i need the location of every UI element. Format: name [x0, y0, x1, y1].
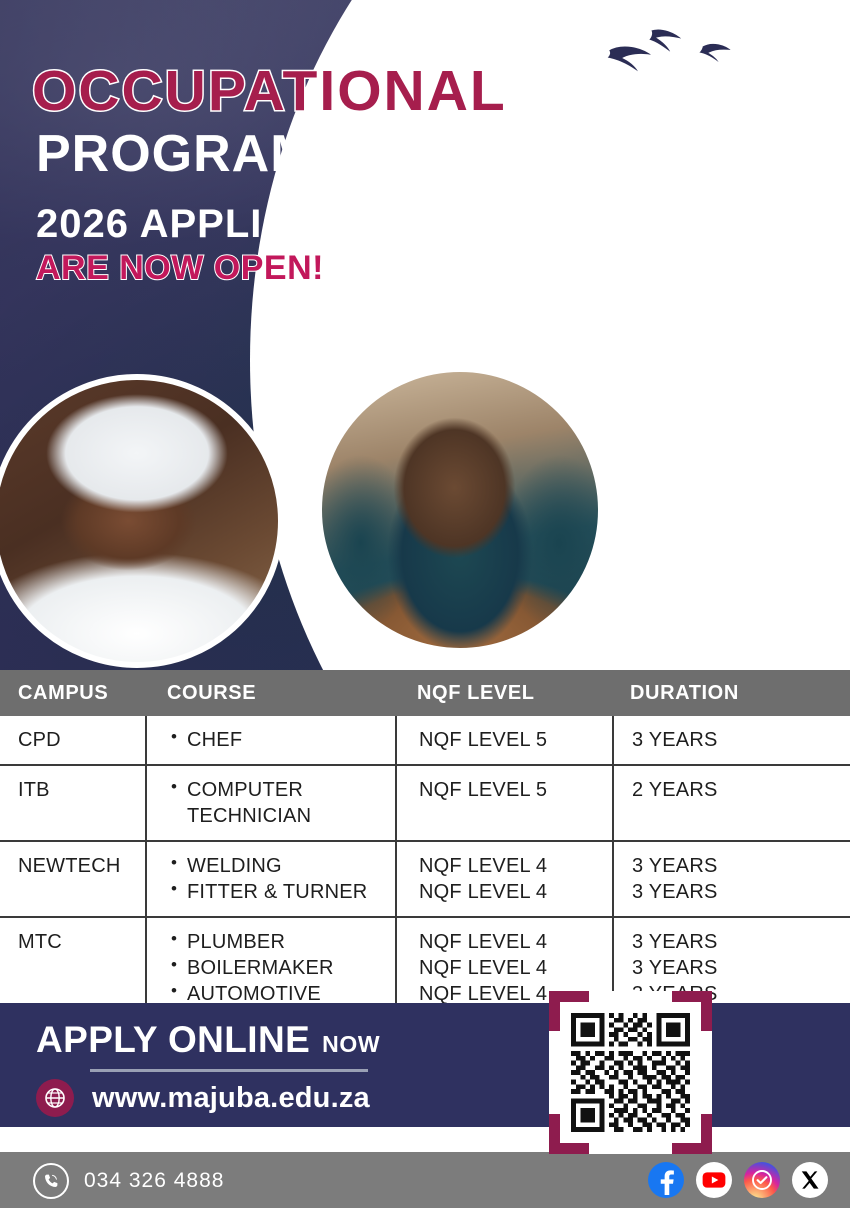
apply-online-label: APPLY ONLINE	[36, 1019, 310, 1061]
cell-duration: 3 YEARS	[612, 716, 850, 764]
hero-title-programmes: PROGRAMMES	[36, 126, 592, 182]
course-item: PLUMBER	[187, 929, 395, 955]
apply-headline-group: APPLY ONLINE NOW	[36, 1019, 380, 1061]
table-row: CPD CHEF NQF LEVEL 5 3 YEARS	[0, 716, 850, 766]
website-link[interactable]: www.majuba.edu.za	[36, 1079, 370, 1117]
cell-course: CHEF	[145, 716, 395, 764]
table-row: NEWTECH WELDING FITTER & TURNER NQF LEVE…	[0, 842, 850, 918]
course-item: BOILERMAKER	[187, 955, 395, 981]
phone-number: 034 326 4888	[84, 1169, 224, 1193]
cell-campus: CPD	[0, 716, 145, 764]
logo-tagline: reaching greater heights together	[590, 152, 840, 168]
cell-duration: 2 YEARS	[612, 766, 850, 840]
qr-bracket-br-v	[701, 1114, 712, 1154]
chef-student-photo	[0, 374, 284, 668]
phone-icon	[33, 1163, 69, 1199]
column-header-course: COURSE	[145, 682, 395, 705]
welding-students-photo	[316, 366, 604, 654]
nqf-item: NQF LEVEL 5	[419, 777, 612, 803]
cell-duration: 3 YEARS 3 YEARS	[612, 842, 850, 916]
footer-bar: 034 326 4888	[0, 1152, 850, 1208]
hero-title-occupational: OCCUPATIONAL	[32, 62, 592, 120]
facebook-icon[interactable]	[648, 1162, 684, 1198]
x-twitter-icon[interactable]	[792, 1162, 828, 1198]
cell-course: WELDING FITTER & TURNER	[145, 842, 395, 916]
duration-item: 3 YEARS	[632, 929, 850, 955]
social-links	[648, 1162, 828, 1198]
duration-item: 3 YEARS	[632, 727, 850, 753]
column-header-campus: CAMPUS	[0, 682, 145, 705]
table-row: ITB COMPUTER TECHNICIAN NQF LEVEL 5 2 YE…	[0, 766, 850, 842]
logo-subtitle: Technical and Vocational Education and T…	[590, 119, 840, 143]
hero-subtitle-applications: 2026 APPLICATIONS	[36, 202, 592, 246]
duration-item: 3 YEARS	[632, 879, 850, 905]
apply-now-label: NOW	[322, 1031, 380, 1058]
qr-bracket-tl-v	[549, 991, 560, 1031]
cell-nqf: NQF LEVEL 5	[395, 716, 612, 764]
phone-contact[interactable]: 034 326 4888	[33, 1163, 224, 1199]
duration-item: 2 YEARS	[632, 777, 850, 803]
nqf-item: NQF LEVEL 5	[419, 727, 612, 753]
table-header-row: CAMPUS COURSE NQF LEVEL DURATION	[0, 670, 850, 716]
duration-item: 3 YEARS	[632, 955, 850, 981]
hero-heading-group: OCCUPATIONAL PROGRAMMES 2026 APPLICATION…	[32, 62, 592, 288]
cell-campus: NEWTECH	[0, 842, 145, 916]
cell-nqf: NQF LEVEL 5	[395, 766, 612, 840]
course-item: COMPUTER TECHNICIAN	[187, 777, 395, 829]
qr-bracket-bl-v	[549, 1114, 560, 1154]
poster: OCCUPATIONAL PROGRAMMES 2026 APPLICATION…	[0, 0, 850, 1208]
qr-code[interactable]	[549, 991, 712, 1154]
nqf-item: NQF LEVEL 4	[419, 955, 612, 981]
qr-matrix	[571, 1013, 690, 1132]
logo-divider-top	[592, 114, 838, 116]
globe-icon	[36, 1079, 74, 1117]
majuba-college-logo: Majuba College Technical and Vocational …	[590, 24, 840, 168]
logo-name: Majuba College	[590, 76, 840, 110]
course-item: FITTER & TURNER	[187, 879, 395, 905]
instagram-icon[interactable]	[744, 1162, 780, 1198]
programmes-table: CAMPUS COURSE NQF LEVEL DURATION CPD CHE…	[0, 670, 850, 1046]
column-header-nqf: NQF LEVEL	[395, 682, 612, 705]
duration-item: 3 YEARS	[632, 853, 850, 879]
qr-bracket-tr-v	[701, 991, 712, 1031]
course-item: CHEF	[187, 727, 395, 753]
birds-icon	[590, 24, 840, 76]
apply-divider	[90, 1069, 368, 1072]
nqf-item: NQF LEVEL 4	[419, 879, 612, 905]
course-item: WELDING	[187, 853, 395, 879]
cell-campus: ITB	[0, 766, 145, 840]
website-url: www.majuba.edu.za	[92, 1082, 370, 1115]
column-header-duration: DURATION	[612, 682, 850, 705]
cell-course: COMPUTER TECHNICIAN	[145, 766, 395, 840]
apply-online-banner: APPLY ONLINE NOW www.majuba.edu.za	[0, 1003, 850, 1127]
youtube-icon[interactable]	[696, 1162, 732, 1198]
nqf-item: NQF LEVEL 4	[419, 929, 612, 955]
logo-divider-bottom	[592, 146, 838, 148]
cell-nqf: NQF LEVEL 4 NQF LEVEL 4	[395, 842, 612, 916]
hero-subtitle-open: ARE NOW OPEN!	[36, 250, 592, 287]
nqf-item: NQF LEVEL 4	[419, 853, 612, 879]
